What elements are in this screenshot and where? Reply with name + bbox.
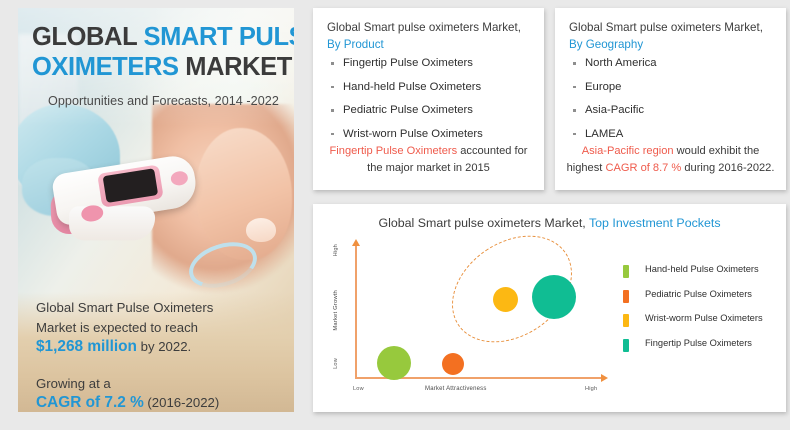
footnote-text-end: during 2016-2022. bbox=[681, 162, 774, 174]
title-word-global: GLOBAL bbox=[32, 23, 143, 51]
card-geography-footnote: Asia-Pacific region would exhibit the hi… bbox=[565, 143, 776, 176]
infographic-canvas: GLOBAL SMART PULSE OXIMETERS MARKET Oppo… bbox=[0, 0, 790, 430]
stat-market-size-line1: Global Smart Pulse Oximeters bbox=[36, 298, 284, 318]
chart-title-highlight: Top Investment Pockets bbox=[589, 216, 721, 230]
list-item: Hand-held Pulse Oximeters bbox=[329, 80, 536, 94]
card-geography-heading: Global Smart pulse oximeters Market, By … bbox=[569, 19, 780, 53]
legend-label: Fingertip Pulse Oximeters bbox=[645, 336, 752, 350]
legend-swatch-fingertip bbox=[623, 339, 629, 352]
stat-market-year: by 2022. bbox=[137, 339, 191, 354]
chart-title-main: Global Smart pulse oximeters Market, bbox=[378, 216, 589, 230]
legend-label: Hand-held Pulse Oximeters bbox=[645, 262, 759, 276]
card-by-geography: Global Smart pulse oximeters Market, By … bbox=[555, 8, 786, 190]
legend-swatch-pediatric bbox=[623, 290, 629, 303]
bubble-pediatric-pulse-oximeters bbox=[442, 353, 464, 375]
footnote-highlight-cagr: CAGR of 8.7 % bbox=[605, 162, 681, 174]
y-tick-high: High bbox=[333, 244, 339, 256]
y-tick-low: Low bbox=[333, 358, 339, 369]
x-tick-low: Low bbox=[353, 386, 364, 392]
legend-item: Wrist-worm Pulse Oximeters bbox=[623, 311, 783, 336]
stat-cagr-period: (2016-2022) bbox=[144, 395, 220, 410]
y-axis-label: Market Growth bbox=[333, 290, 339, 331]
legend-item: Hand-held Pulse Oximeters bbox=[623, 262, 783, 287]
card-top-investment-pockets: Global Smart pulse oximeters Market, Top… bbox=[313, 204, 786, 412]
stat-market-size-line3: $1,268 million by 2022. bbox=[36, 337, 284, 357]
x-axis-label: Market Attractiveness bbox=[425, 386, 487, 392]
list-item: Wrist-worn Pulse Oximeters bbox=[329, 127, 536, 141]
list-item: Asia-Pacific bbox=[571, 103, 778, 117]
page-title: GLOBAL SMART PULSE OXIMETERS MARKET bbox=[32, 22, 284, 82]
stat-cagr-line1: Growing at a bbox=[36, 374, 284, 394]
stat-market-size-line2: Market is expected to reach bbox=[36, 318, 284, 338]
list-item: LAMEA bbox=[571, 127, 778, 141]
bubble-wrist-worm-pulse-oximeters bbox=[493, 287, 518, 312]
footnote-highlight: Fingertip Pulse Oximeters bbox=[330, 145, 458, 157]
legend-label: Pediatric Pulse Oximeters bbox=[645, 287, 752, 301]
card-product-footnote: Fingertip Pulse Oximeters accounted for … bbox=[323, 143, 534, 176]
geography-list: North America Europe Asia-Pacific LAMEA bbox=[571, 56, 778, 150]
stat-cagr-value: CAGR of 7.2 % bbox=[36, 394, 144, 411]
list-item: Fingertip Pulse Oximeters bbox=[329, 56, 536, 70]
stat-market-value: $1,268 million bbox=[36, 338, 137, 355]
title-word-smart-pulse: SMART PULSE bbox=[143, 23, 294, 51]
product-list: Fingertip Pulse Oximeters Hand-held Puls… bbox=[329, 56, 536, 150]
legend-swatch-hand-held bbox=[623, 265, 629, 278]
hero-panel: GLOBAL SMART PULSE OXIMETERS MARKET Oppo… bbox=[18, 8, 294, 412]
legend-item: Pediatric Pulse Oximeters bbox=[623, 287, 783, 312]
legend-label: Wrist-worm Pulse Oximeters bbox=[645, 311, 763, 325]
bubble-plot-area: High Low Market Growth Low High Market A… bbox=[329, 240, 619, 400]
x-tick-high: High bbox=[585, 386, 597, 392]
card-product-heading: Global Smart pulse oximeters Market, By … bbox=[327, 19, 538, 53]
photo-patient-hand bbox=[196, 128, 292, 260]
chart-legend: Hand-held Pulse Oximeters Pediatric Puls… bbox=[623, 262, 783, 360]
legend-item: Fingertip Pulse Oximeters bbox=[623, 336, 783, 361]
bubble-fingertip-pulse-oximeters bbox=[532, 275, 576, 319]
legend-swatch-wrist-worn bbox=[623, 314, 629, 327]
hero-statistics: Global Smart Pulse Oximeters Market is e… bbox=[36, 298, 284, 412]
list-item: North America bbox=[571, 56, 778, 70]
photo-fingernail bbox=[246, 218, 276, 242]
stat-cagr-line2: CAGR of 7.2 % (2016-2022) bbox=[36, 393, 284, 412]
list-item: Europe bbox=[571, 80, 778, 94]
chart-title: Global Smart pulse oximeters Market, Top… bbox=[313, 216, 786, 230]
stats-spacer bbox=[36, 357, 284, 374]
title-word-oximeters: OXIMETERS bbox=[32, 53, 179, 81]
bubble-hand-held-pulse-oximeters bbox=[377, 346, 411, 380]
card-product-subheading: By Product bbox=[327, 36, 538, 53]
card-product-heading-main: Global Smart pulse oximeters Market, bbox=[327, 21, 521, 34]
footnote-highlight-region: Asia-Pacific region bbox=[582, 145, 674, 157]
list-item: Pediatric Pulse Oximeters bbox=[329, 103, 536, 117]
title-word-market: MARKET bbox=[179, 53, 292, 81]
card-geography-subheading: By Geography bbox=[569, 36, 780, 53]
y-axis bbox=[355, 244, 357, 378]
card-by-product: Global Smart pulse oximeters Market, By … bbox=[313, 8, 544, 190]
card-geography-heading-main: Global Smart pulse oximeters Market, bbox=[569, 21, 763, 34]
page-subtitle: Opportunities and Forecasts, 2014 -2022 bbox=[48, 94, 279, 108]
